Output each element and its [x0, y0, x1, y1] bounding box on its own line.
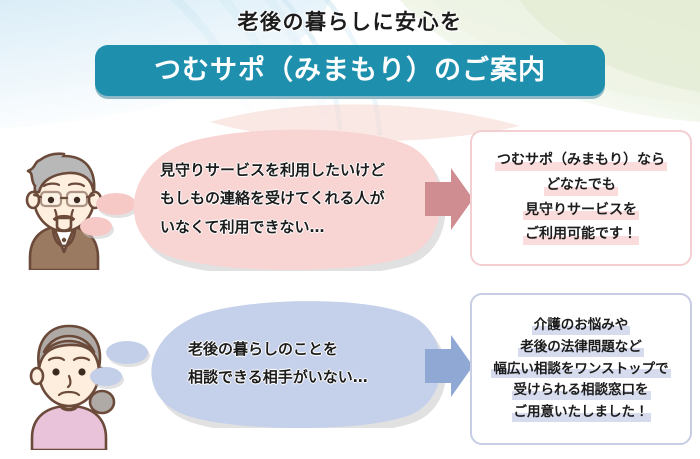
- answer-panel-monitoring: つむサポ（みまもり）なら どなたでも 見守りサービスを ご利用可能です！: [470, 130, 692, 266]
- problem-bubble-consultation: 老後の暮らしのことを 相談できる相手がいない…: [140, 298, 450, 428]
- bubble-line: 相談できる相手がいない…: [188, 363, 450, 392]
- title-banner: つむサポ（みまもり）のご案内: [95, 45, 605, 96]
- bubble-line: いなくて利用できない…: [160, 213, 450, 242]
- panel-line: 幅広い相談をワンストップで: [491, 359, 670, 380]
- bubble-text-consultation: 老後の暮らしのことを 相談できる相手がいない…: [140, 335, 450, 392]
- panel-line: 介護のお悩みや: [532, 315, 631, 336]
- panel-line: つむサポ（みまもり）なら: [495, 150, 667, 172]
- bubble-line: もしもの連絡を受けてくれる人が: [160, 184, 450, 213]
- bubble-text-monitoring: 見守りサービスを利用したいけど もしもの連絡を受けてくれる人が いなくて利用でき…: [120, 156, 450, 242]
- answer-panel-consultation: 介護のお悩みや 老後の法律問題など 幅広い相談をワンストップで 受けられる相談窓…: [470, 293, 692, 445]
- poster-canvas: 老後の暮らしに安心を つむサポ（みまもり）のご案内: [0, 0, 700, 459]
- panel-line: どなたでも: [544, 175, 618, 197]
- poster-header: 老後の暮らしに安心を つむサポ（みまもり）のご案内: [0, 0, 700, 33]
- panel-line: 受けられる相談窓口を: [512, 380, 651, 401]
- panel-line: 見守りサービスを: [523, 200, 639, 222]
- row-consultation: 老後の暮らしのことを 相談できる相手がいない… 介護のお悩みや 老後の法律問題な…: [0, 288, 700, 459]
- header-kicker: 老後の暮らしに安心を: [0, 12, 700, 33]
- page-title: つむサポ（みまもり）のご案内: [154, 57, 546, 84]
- panel-line: ご利用可能です！: [523, 224, 639, 246]
- bubble-line: 見守りサービスを利用したいけど: [160, 156, 450, 185]
- row-monitoring: 見守りサービスを利用したいけど もしもの連絡を受けてくれる人が いなくて利用でき…: [0, 118, 700, 278]
- panel-line: 老後の法律問題など: [518, 337, 644, 358]
- bubble-line: 老後の暮らしのことを: [188, 335, 450, 364]
- panel-line: ご用意いたしました！: [512, 402, 651, 423]
- problem-bubble-monitoring: 見守りサービスを利用したいけど もしもの連絡を受けてくれる人が いなくて利用でき…: [120, 126, 450, 271]
